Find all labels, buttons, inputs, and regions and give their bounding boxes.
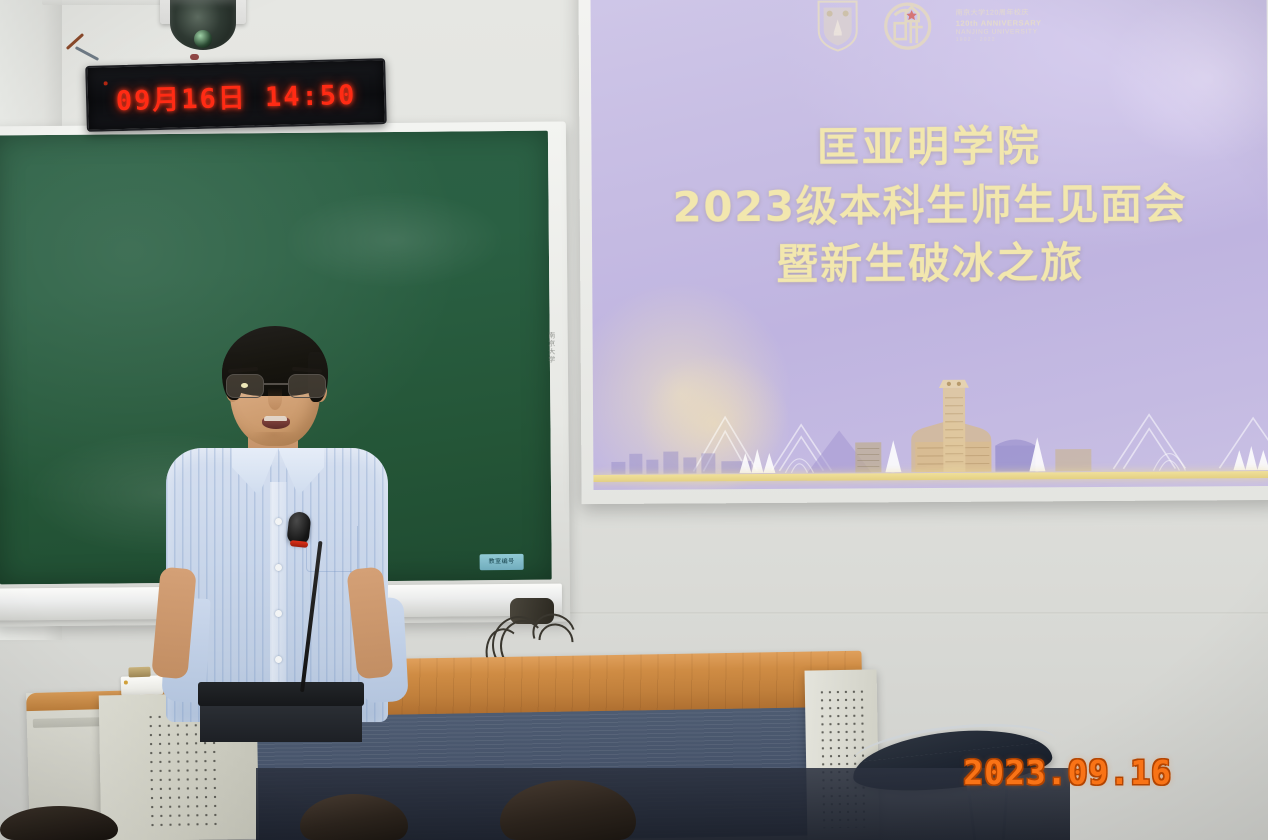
led-power-indicator <box>104 81 108 85</box>
projection-screen-frame: 南京大学120周年校庆 120th ANNIVERSARY NANJING UN… <box>578 0 1268 504</box>
dome-camera-icon <box>160 0 246 52</box>
person-chin-shadow <box>252 432 296 446</box>
desk-device-top <box>128 667 150 678</box>
camera-lens-icon <box>194 30 212 48</box>
eyeglass-lens <box>226 374 264 398</box>
person-trousers <box>200 702 362 742</box>
shirt-button <box>275 518 282 525</box>
person-belt <box>198 682 364 706</box>
camera-date-stamp: 2023.09.16 <box>963 753 1172 792</box>
lens-glint <box>241 383 248 388</box>
speaker-person <box>152 322 400 722</box>
blackboard-side-text: 南京大学 <box>546 332 556 364</box>
photograph-canvas: 南京大学 教室编号 09月16日 14:50 <box>0 0 1268 840</box>
led-clock-text: 09月16日 14:50 <box>115 72 357 117</box>
camera-mount-bracket <box>42 0 166 5</box>
person-teeth <box>264 416 287 421</box>
slide-title-line-3: 暨新生破冰之旅 <box>592 235 1268 294</box>
camera-ir-led <box>190 54 199 60</box>
eyeglass-lens <box>288 374 326 398</box>
anniversary-years-text: 1902 - 2022 <box>956 36 996 42</box>
anniversary-en-text: 120th ANNIVERSARY <box>956 18 1042 28</box>
shirt-button <box>275 564 282 571</box>
cheng-character-emblem-icon <box>882 0 934 51</box>
slide-logo-row: 南京大学120周年校庆 120th ANNIVERSARY NANJING UN… <box>591 0 1267 54</box>
projection-screen-surface: 南京大学120周年校庆 120th ANNIVERSARY NANJING UN… <box>590 0 1268 490</box>
led-clock-display: 09月16日 14:50 <box>85 58 387 132</box>
nanjing-university-shield-icon <box>816 0 860 53</box>
slide-title-line-1: 匡亚明学院 <box>591 118 1267 177</box>
slide-title-line-2: 2023级本科生师生见面会 <box>592 177 1268 236</box>
anniversary-cn-text: 南京大学120周年校庆 <box>956 7 1029 17</box>
desk-device-indicator <box>124 680 128 684</box>
shirt-button <box>275 656 282 663</box>
audience-head <box>0 806 118 840</box>
eyeglass-bridge <box>264 383 288 385</box>
anniversary-university-text: NANJING UNIVERSITY <box>956 28 1038 36</box>
person-nose <box>268 388 282 410</box>
slide-title: 匡亚明学院 2023级本科生师生见面会 暨新生破冰之旅 <box>591 118 1268 294</box>
camera-dome <box>170 0 236 50</box>
shirt-pocket <box>306 526 358 572</box>
shirt-button <box>275 610 282 617</box>
blackboard-sticker: 教室编号 <box>480 554 524 570</box>
anniversary-mark: 南京大学120周年校庆 120th ANNIVERSARY NANJING UN… <box>956 7 1042 43</box>
